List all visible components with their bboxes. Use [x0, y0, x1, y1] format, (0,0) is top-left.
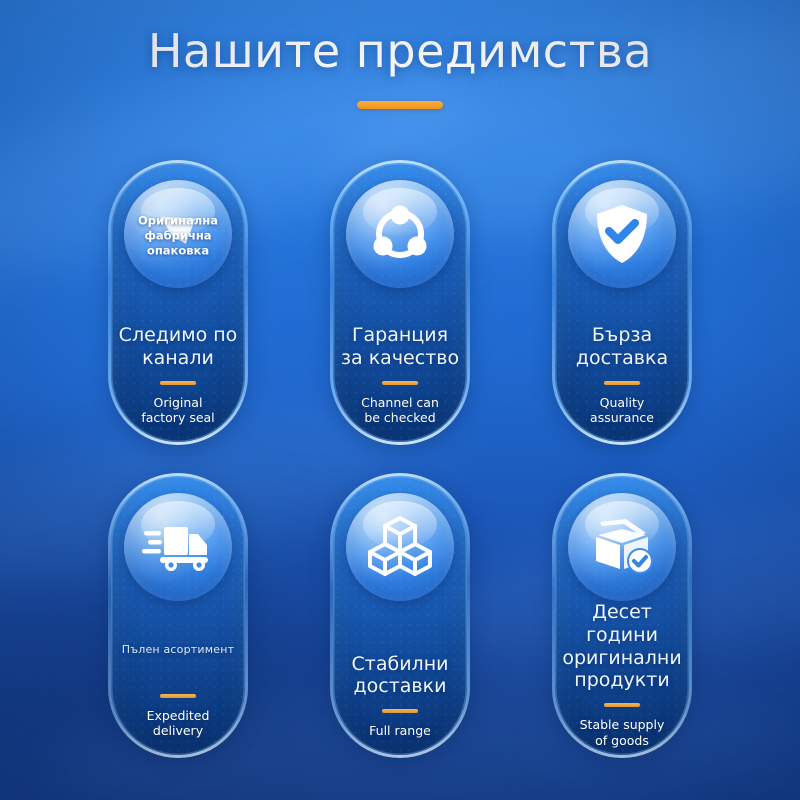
advantage-card[interactable]: Гаранцияза качество Channel canbe checke… [330, 160, 470, 445]
delivery-truck-icon [142, 519, 214, 575]
icon-bubble [124, 493, 232, 601]
title-divider [357, 101, 443, 109]
card-divider [382, 709, 418, 713]
card-title: Бързадоставка [576, 324, 668, 370]
card-title: Десет годиниоригиналнипродукти [561, 601, 683, 692]
advantage-card[interactable]: Пълен асортимент Expediteddelivery [108, 473, 248, 758]
card-subtitle: Full range [369, 723, 431, 739]
card-divider [604, 703, 640, 707]
card-divider [160, 381, 196, 385]
card-subtitle: Expediteddelivery [147, 708, 210, 740]
advantages-grid: Оригиналнафабричнаопаковка Следимо покан… [0, 160, 800, 758]
advantage-card[interactable]: Десет годиниоригиналнипродукти Stable su… [552, 473, 692, 758]
card-subtitle: Stable supplyof goods [580, 717, 665, 749]
stacked-boxes-icon [366, 514, 434, 580]
card-title: Стабилнидоставки [352, 653, 449, 699]
card-title: Следимо поканали [119, 324, 238, 370]
icon-bubble [346, 180, 454, 288]
icon-bubble [568, 493, 676, 601]
open-box-check-icon [588, 517, 656, 577]
card-divider [160, 694, 196, 698]
banner-header: Нашите предимства [0, 26, 800, 109]
card-divider [382, 381, 418, 385]
promo-banner: Нашите предимства Оригиналнафабричнаопак… [0, 0, 800, 800]
advantage-card[interactable]: Оригиналнафабричнаопаковка Следимо покан… [108, 160, 248, 445]
card-title: Пълен асортимент [122, 643, 234, 656]
page-title: Нашите предимства [0, 26, 800, 77]
advantage-card[interactable]: Бързадоставка Qualityassurance [552, 160, 692, 445]
card-subtitle: Channel canbe checked [361, 395, 439, 427]
card-title: Гаранцияза качество [341, 324, 459, 370]
shield-check-icon [592, 202, 652, 266]
share-network-icon [368, 202, 432, 266]
card-divider [604, 381, 640, 385]
advantage-card[interactable]: Стабилнидоставки Full range [330, 473, 470, 758]
card-subtitle: Originalfactory seal [141, 395, 214, 427]
icon-bubble [568, 180, 676, 288]
icon-bubble: Оригиналнафабричнаопаковка [124, 180, 232, 288]
icon-bubble [346, 493, 454, 601]
card-subtitle: Qualityassurance [590, 395, 654, 427]
bubble-caption: Оригиналнафабричнаопаковка [124, 213, 232, 258]
